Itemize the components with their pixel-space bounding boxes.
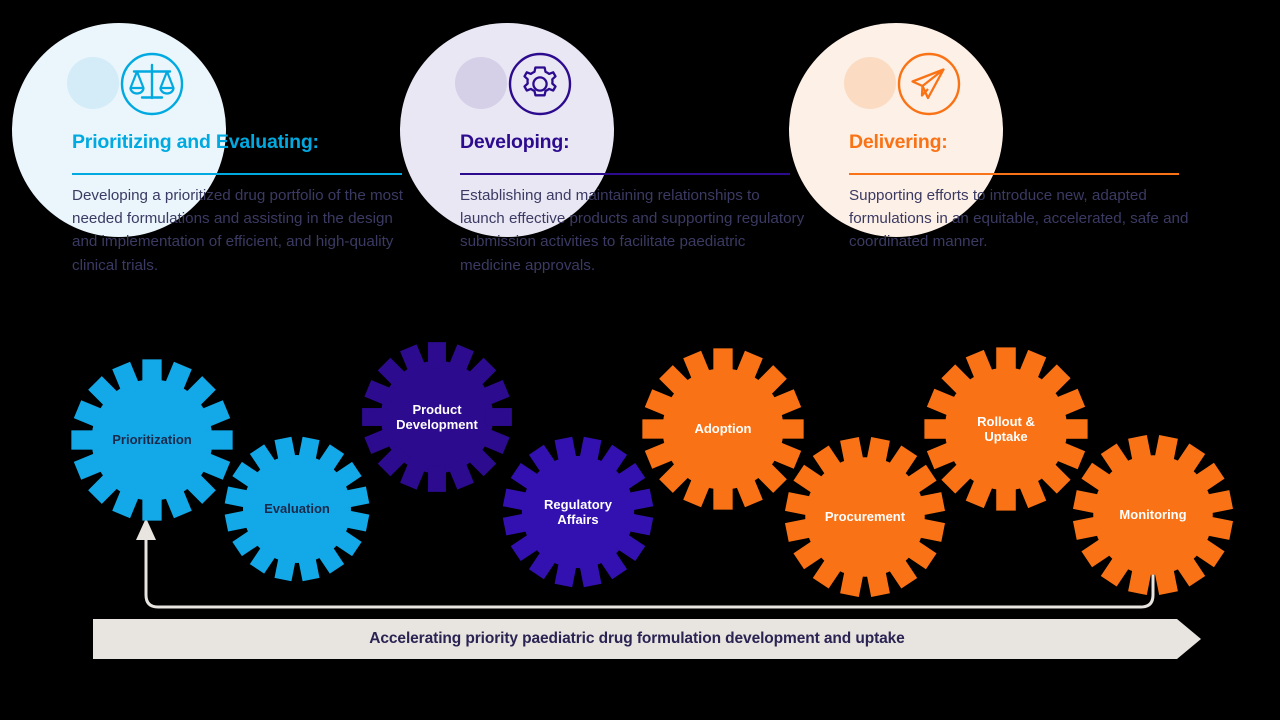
gear-shape: [1070, 432, 1236, 598]
gear-shape: [500, 434, 656, 590]
banner-text: Accelerating priority paediatric drug fo…: [93, 619, 1201, 659]
gear-shape: [921, 344, 1091, 514]
gear-product-development[interactable]: Product Development: [359, 339, 515, 495]
gear-shape: [68, 356, 236, 524]
gear-shape: [359, 339, 515, 495]
gear-prioritization[interactable]: Prioritization: [68, 356, 236, 524]
gear-rollout-uptake[interactable]: Rollout & Uptake: [921, 344, 1091, 514]
gear-regulatory-affairs[interactable]: Regulatory Affairs: [500, 434, 656, 590]
gear-monitoring[interactable]: Monitoring: [1070, 432, 1236, 598]
infographic-canvas: Prioritizing and Evaluating: Developing …: [0, 0, 1280, 720]
gear-shape: [222, 434, 372, 584]
summary-banner: Accelerating priority paediatric drug fo…: [93, 619, 1201, 659]
gear-evaluation[interactable]: Evaluation: [222, 434, 372, 584]
